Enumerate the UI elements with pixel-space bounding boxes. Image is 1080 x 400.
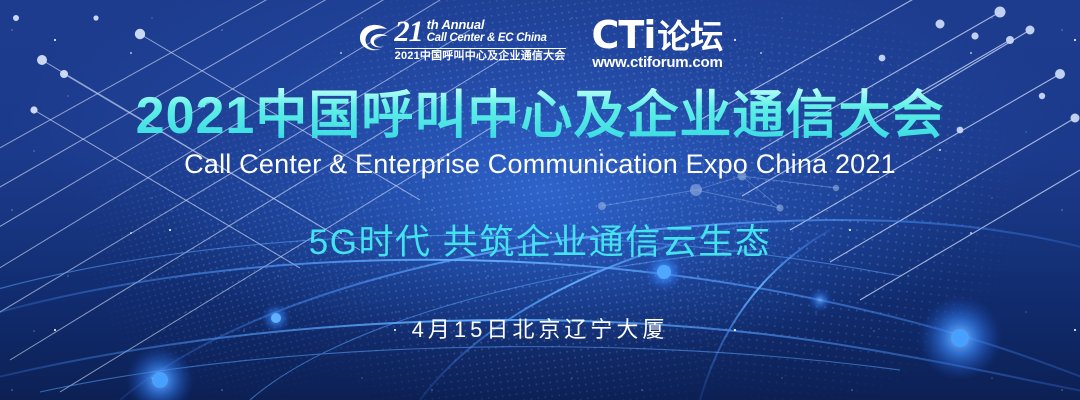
cti-chinese-wordmark: 论坛 — [657, 22, 723, 52]
logo-row: 21 th Annual Call Center & EC China 2021… — [0, 18, 1080, 71]
page-title-chinese: 2021中国呼叫中心及企业通信大会 — [0, 88, 1080, 144]
cti-latin-wordmark: CTi — [592, 18, 656, 52]
swoosh-icon — [357, 20, 391, 60]
annual-chinese-line: 2021中国呼叫中心及企业通信大会 — [395, 48, 566, 62]
cti-website-url: www.ctiforum.com — [592, 54, 722, 71]
page-title-english: Call Center & Enterprise Communication E… — [0, 150, 1080, 180]
annual-conference-logo[interactable]: 21 th Annual Call Center & EC China 2021… — [357, 18, 566, 62]
annual-english-line: Call Center & EC China — [427, 32, 547, 44]
event-theme-slogan: 5G时代 共筑企业通信云生态 — [0, 224, 1080, 263]
headline-block: 2021中国呼叫中心及企业通信大会 Call Center & Enterpri… — [0, 88, 1080, 180]
ctiforum-logo[interactable]: CTi 论坛 www.ctiforum.com — [592, 18, 724, 71]
annual-edition-suffix: th Annual — [427, 18, 547, 32]
annual-edition-number: 21 — [395, 18, 423, 46]
event-date-venue: 4月15日北京辽宁大厦 — [0, 318, 1080, 342]
event-banner: 21 th Annual Call Center & EC China 2021… — [0, 0, 1080, 400]
